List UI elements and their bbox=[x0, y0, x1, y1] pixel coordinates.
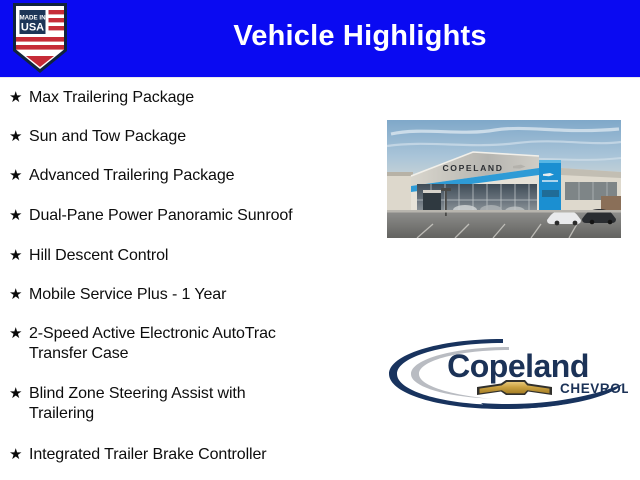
star-bullet-icon: ★ bbox=[9, 382, 22, 406]
list-item-label: Advanced Trailering Package bbox=[29, 164, 234, 186]
list-item: ★ Mobile Service Plus - 1 Year bbox=[0, 283, 226, 307]
star-bullet-icon: ★ bbox=[9, 244, 22, 268]
star-bullet-icon: ★ bbox=[9, 322, 22, 346]
list-item: ★ Dual-Pane Power Panoramic Sunroof bbox=[0, 204, 293, 228]
star-bullet-icon: ★ bbox=[9, 125, 22, 149]
page-title: Vehicle Highlights bbox=[100, 18, 620, 54]
list-item-label: Sun and Tow Package bbox=[29, 125, 186, 147]
star-bullet-icon: ★ bbox=[9, 283, 22, 307]
list-item-label: Mobile Service Plus - 1 Year bbox=[29, 283, 226, 305]
list-item-label: 2-Speed Active Electronic AutoTrac Trans… bbox=[29, 322, 329, 364]
star-bullet-icon: ★ bbox=[9, 204, 22, 228]
made-in-usa-badge: MADE IN USA bbox=[11, 1, 69, 75]
dealership-sign-text: COPELAND bbox=[442, 163, 503, 173]
badge-line2: USA bbox=[21, 22, 44, 34]
list-item: ★ Sun and Tow Package bbox=[0, 125, 186, 149]
dealership-photo: COPELAND bbox=[387, 120, 621, 238]
list-item-label: Hill Descent Control bbox=[29, 244, 168, 266]
list-item: ★ Hill Descent Control bbox=[0, 244, 168, 268]
logo-subtext: CHEVROLET bbox=[560, 381, 628, 396]
list-item-label: Blind Zone Steering Assist with Traileri… bbox=[29, 382, 294, 424]
list-item-label: Max Trailering Package bbox=[29, 86, 194, 108]
list-item: ★ Advanced Trailering Package bbox=[0, 164, 234, 188]
logo-wordmark: Copeland bbox=[447, 348, 589, 384]
list-item-label: Dual-Pane Power Panoramic Sunroof bbox=[29, 204, 293, 226]
badge-line1: MADE IN bbox=[19, 15, 46, 22]
star-bullet-icon: ★ bbox=[9, 443, 22, 467]
list-item: ★ 2-Speed Active Electronic AutoTrac Tra… bbox=[0, 322, 359, 364]
list-item: ★ Max Trailering Package bbox=[0, 86, 194, 110]
star-bullet-icon: ★ bbox=[9, 164, 22, 188]
header-underline bbox=[0, 77, 640, 78]
list-item-label: Integrated Trailer Brake Controller bbox=[29, 443, 267, 465]
list-item: ★ Integrated Trailer Brake Controller bbox=[0, 443, 267, 467]
list-item: ★ Blind Zone Steering Assist with Traile… bbox=[0, 382, 329, 424]
copeland-chevrolet-logo: Copeland CHEVROLET bbox=[385, 337, 628, 412]
star-bullet-icon: ★ bbox=[9, 86, 22, 110]
